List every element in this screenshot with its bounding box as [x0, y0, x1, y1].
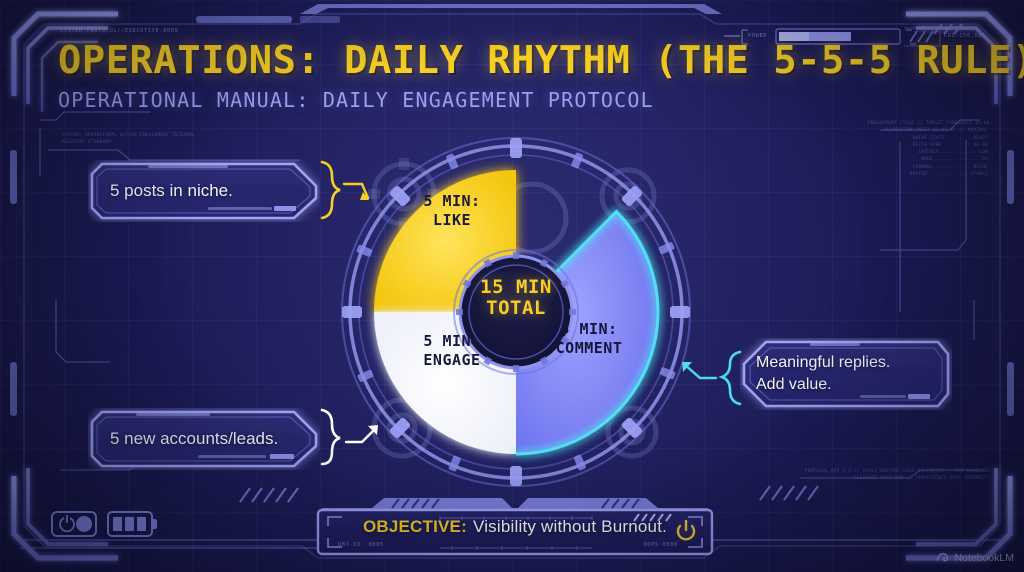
watermark-label: NotebookLM: [954, 552, 1014, 564]
bottom-micro-text: PROTOCOL REV 2.1 // DAILY ROUTINE LOOP V…: [800, 468, 990, 483]
title-block: OPERATIONS: DAILY RHYTHM (THE 5-5-5 RULE…: [58, 38, 1017, 112]
left-micro-text: SYSTEM: OPERATIONAL ACTIVE ENGAGEMENT IN…: [62, 132, 212, 147]
power-status-icons: [52, 512, 157, 536]
top-left-code: SYSTEM.PROTOCOL//EXECUTIVE.0005: [60, 28, 179, 34]
notebooklm-watermark: NotebookLM: [936, 551, 1014, 564]
callout-posts[interactable]: 5 posts in niche.: [88, 160, 320, 222]
daily-rhythm-pie-chart: 5 MIN: LIKE 5 MIN: ENGAGE 5 MIN: COMMENT…: [336, 132, 696, 492]
callout-replies[interactable]: Meaningful replies. Add value.: [740, 338, 952, 410]
infographic-canvas: OPERATIONS: DAILY RHYTHM (THE 5-5-5 RULE…: [0, 0, 1024, 572]
callout-posts-connector: [316, 158, 380, 224]
right-micro-text: ENGAGEMENT CYCLE // TARGET THRESHOLD 15.…: [868, 120, 988, 178]
objective-bar: OBJECTIVE:Visibility without Burnout. OB…: [312, 498, 718, 556]
notebooklm-logo-icon: [936, 551, 949, 564]
page-title: OPERATIONS: DAILY RHYTHM (THE 5-5-5 RULE…: [58, 38, 1024, 82]
callout-replies-connector: [676, 348, 746, 408]
page-subtitle: OPERATIONAL MANUAL: DAILY ENGAGEMENT PRO…: [58, 88, 1017, 112]
callout-accounts-connector: [316, 406, 388, 472]
callout-accounts[interactable]: 5 new accounts/leads.: [88, 408, 320, 470]
